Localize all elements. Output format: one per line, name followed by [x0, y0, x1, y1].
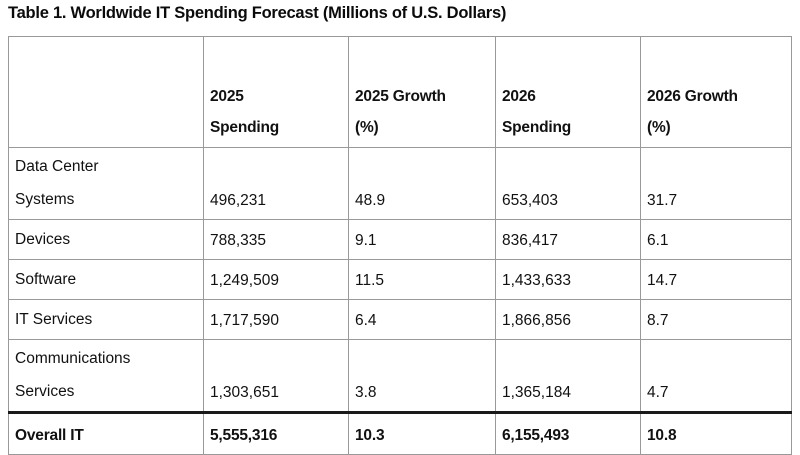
- header-line-1: 2025 Growth: [355, 81, 491, 112]
- cell-2025-growth: 9.1: [349, 220, 496, 260]
- row-label-overall-it: Overall IT: [9, 413, 204, 455]
- row-label-data-center-systems: Data Center Systems: [9, 148, 204, 220]
- table-header: 2025 Spending 2025 Growth (%) 2026 Spend…: [9, 37, 792, 148]
- cell-2025-growth: 11.5: [349, 260, 496, 300]
- header-line-1: 2025: [210, 81, 344, 112]
- header-cell-2026-spending: 2026 Spending: [496, 37, 641, 148]
- row-label-devices: Devices: [9, 220, 204, 260]
- header-line-2: (%): [355, 112, 491, 143]
- cell-2025-spending: 788,335: [204, 220, 349, 260]
- label-line-1: IT Services: [15, 303, 199, 336]
- cell-2026-spending: 653,403: [496, 148, 641, 220]
- label-line-1: Devices: [15, 223, 199, 256]
- header-cell-segment: [9, 37, 204, 148]
- cell-2026-growth: 14.7: [641, 260, 792, 300]
- cell-2025-spending: 496,231: [204, 148, 349, 220]
- header-line-2: (%): [647, 112, 787, 143]
- table-caption: Table 1. Worldwide IT Spending Forecast …: [8, 4, 506, 23]
- cell-2026-spending: 1,365,184: [496, 340, 641, 413]
- table-row: Software 1,249,509 11.5 1,433,633 14.7: [9, 260, 792, 300]
- table-row: IT Services 1,717,590 6.4 1,866,856 8.7: [9, 300, 792, 340]
- table-row: Data Center Systems 496,231 48.9 653,403…: [9, 148, 792, 220]
- row-label-software: Software: [9, 260, 204, 300]
- cell-2026-spending: 1,433,633: [496, 260, 641, 300]
- cell-2025-growth: 6.4: [349, 300, 496, 340]
- header-cell-2026-growth: 2026 Growth (%): [641, 37, 792, 148]
- header-row: 2025 Spending 2025 Growth (%) 2026 Spend…: [9, 37, 792, 148]
- cell-2025-growth: 3.8: [349, 340, 496, 413]
- cell-2026-growth: 6.1: [641, 220, 792, 260]
- label-line-1: Data Center: [15, 150, 199, 183]
- cell-2025-spending: 1,717,590: [204, 300, 349, 340]
- cell-2026-growth: 10.8: [641, 413, 792, 455]
- header-line-2: Spending: [502, 112, 636, 143]
- table-row: Communications Services 1,303,651 3.8 1,…: [9, 340, 792, 413]
- it-spending-forecast-table: 2025 Spending 2025 Growth (%) 2026 Spend…: [8, 36, 792, 455]
- cell-2025-spending: 1,303,651: [204, 340, 349, 413]
- cell-2026-growth: 31.7: [641, 148, 792, 220]
- row-label-it-services: IT Services: [9, 300, 204, 340]
- cell-2026-spending: 1,866,856: [496, 300, 641, 340]
- label-line-2: Systems: [15, 183, 199, 216]
- header-cell-2025-spending: 2025 Spending: [204, 37, 349, 148]
- cell-2025-spending: 5,555,316: [204, 413, 349, 455]
- cell-2026-growth: 8.7: [641, 300, 792, 340]
- header-line-2: Spending: [210, 112, 344, 143]
- cell-2025-growth: 10.3: [349, 413, 496, 455]
- cell-2026-growth: 4.7: [641, 340, 792, 413]
- row-label-communications-services: Communications Services: [9, 340, 204, 413]
- cell-2025-growth: 48.9: [349, 148, 496, 220]
- label-line-1: Communications: [15, 342, 199, 375]
- header-line-1: 2026: [502, 81, 636, 112]
- cell-2025-spending: 1,249,509: [204, 260, 349, 300]
- table-row-total: Overall IT 5,555,316 10.3 6,155,493 10.8: [9, 413, 792, 455]
- table-row: Devices 788,335 9.1 836,417 6.1: [9, 220, 792, 260]
- cell-2026-spending: 836,417: [496, 220, 641, 260]
- cell-2026-spending: 6,155,493: [496, 413, 641, 455]
- header-cell-2025-growth: 2025 Growth (%): [349, 37, 496, 148]
- label-line-1: Software: [15, 263, 199, 296]
- label-line-2: Services: [15, 375, 199, 408]
- table-container: 2025 Spending 2025 Growth (%) 2026 Spend…: [8, 36, 791, 455]
- table-page: Table 1. Worldwide IT Spending Forecast …: [0, 0, 800, 438]
- table-body: Data Center Systems 496,231 48.9 653,403…: [9, 148, 792, 455]
- header-line-1: 2026 Growth: [647, 81, 787, 112]
